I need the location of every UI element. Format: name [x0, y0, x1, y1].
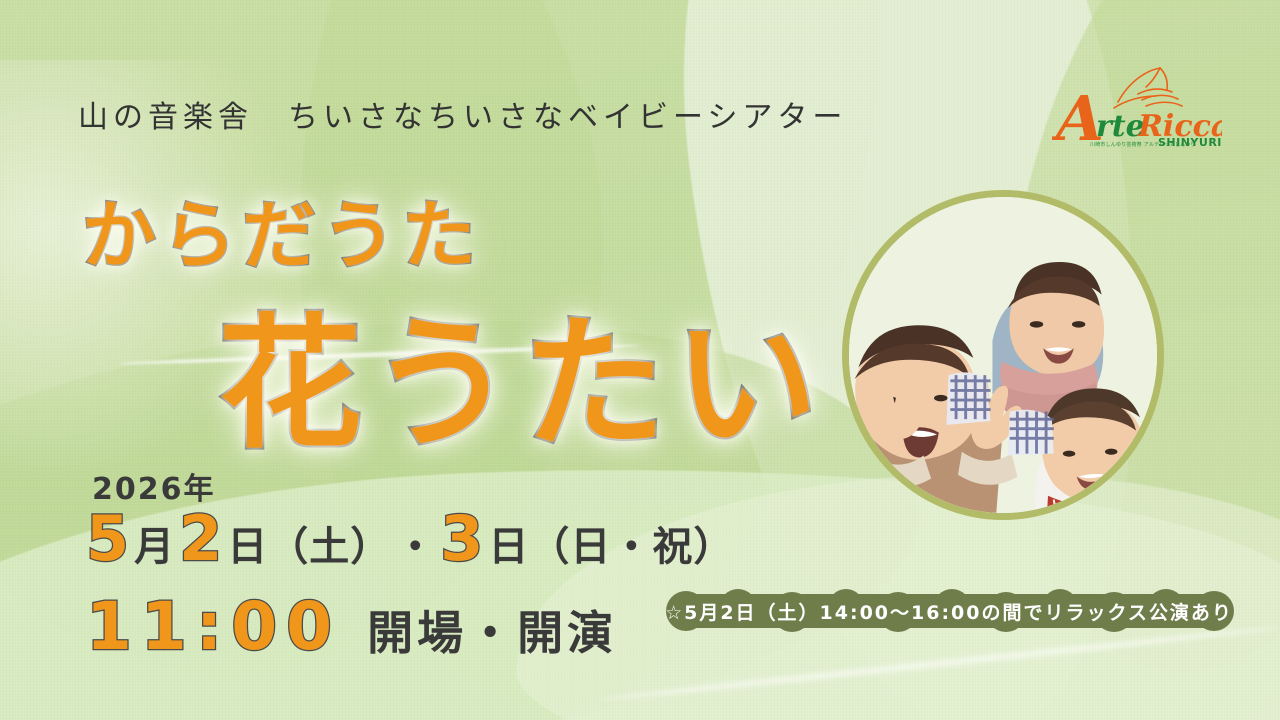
date-separator: ・ — [395, 514, 436, 572]
title-karadauta: からだうた — [82, 176, 482, 283]
baby-photo-circle — [842, 190, 1164, 520]
event-time-line: 11:00 開場・開演 — [86, 588, 617, 665]
date-day2-number: 3 — [440, 502, 484, 575]
date-month-number: 5 — [86, 502, 130, 575]
relax-banner-text: ☆5月2日（土）14:00〜16:00の間でリラックス公演あり — [646, 586, 1252, 636]
date-month-kanji: 月 — [134, 514, 175, 572]
event-time-label: 開場・開演 — [367, 597, 617, 663]
date-day2-label: 日（日・祝） — [488, 514, 734, 572]
logo-micro-text: 川崎市しんゆり芸術祭 アルテリッカしんゆり — [1090, 141, 1196, 148]
date-day1-label: 日（土） — [227, 514, 391, 572]
title-hanautai: 花うたい — [218, 268, 826, 476]
arteriicca-logo[interactable]: A rte Ricca SHINYURI 川崎市しんゆり芸術祭 アルテリッカしん… — [1052, 62, 1222, 154]
event-date-line: 5 月 2 日（土） ・ 3 日（日・祝） — [84, 502, 736, 575]
poster-canvas: 山の音楽舎 ちいさなちいさなベイビーシアター A rte Ricca SHINY… — [0, 0, 1280, 720]
baby-photo — [849, 197, 1157, 513]
date-day1-number: 2 — [179, 502, 223, 575]
wheat-flourish-icon — [1114, 68, 1182, 108]
event-time: 11:00 — [86, 588, 341, 665]
relax-performance-banner: ☆5月2日（土）14:00〜16:00の間でリラックス公演あり — [646, 586, 1252, 636]
company-subtitle: 山の音楽舎 ちいさなちいさなベイビーシアター — [78, 92, 847, 136]
